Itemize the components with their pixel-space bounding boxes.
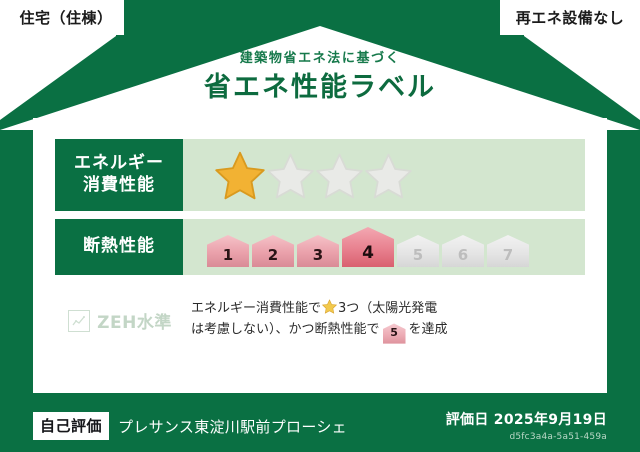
star-empty-icon <box>316 152 363 199</box>
zeh-standard-label: ZEH水準 <box>97 308 172 333</box>
evaluation-id: d5fc3a4a-5a51-459a <box>446 432 607 442</box>
star-filled-icon <box>215 150 265 200</box>
evaluation-date: 評価日 2025年9月19日 <box>446 409 607 429</box>
zeh-standard-chip: ZEH水準 <box>55 308 185 333</box>
property-name: プレサンス東淀川駅前プローシェ <box>118 416 347 437</box>
star-empty-icon <box>365 152 412 199</box>
energy-performance-row: エネルギー 消費性能 <box>55 139 585 211</box>
insulation-grade-2: 2 <box>252 235 294 267</box>
energy-performance-label-line1: エネルギー <box>74 153 164 175</box>
label-card: エネルギー 消費性能 断熱性能 1234567 <box>33 118 607 393</box>
page-title: 省エネ性能ラベル <box>0 71 640 105</box>
star-rating <box>215 150 412 200</box>
zeh-chart-icon <box>68 310 90 332</box>
star-empty-icon <box>267 152 314 199</box>
insulation-grade-7: 7 <box>487 235 529 267</box>
insulation-performance-value: 1234567 <box>183 219 585 275</box>
inline-grade-badge: 5 <box>383 323 406 343</box>
zeh-description-part3: を達成 <box>409 322 448 337</box>
energy-performance-label: 住宅（住棟） 再エネ設備なし 建築物省エネ法に基づく 省エネ性能ラベル エネルギ… <box>0 0 640 452</box>
insulation-grade-4: 4 <box>342 227 394 267</box>
insulation-grade-3: 3 <box>297 235 339 267</box>
insulation-grade-5: 5 <box>397 235 439 267</box>
zeh-description-stars: 3つ（太陽光発電 <box>338 301 437 316</box>
energy-performance-label: エネルギー 消費性能 <box>55 139 183 211</box>
insulation-performance-label-text: 断熱性能 <box>83 236 155 258</box>
label-subtitle: 建築物省エネ法に基づく <box>0 52 640 65</box>
insulation-grade-1: 1 <box>207 235 249 267</box>
inline-star-icon <box>322 299 337 314</box>
label-headline: 建築物省エネ法に基づく 省エネ性能ラベル <box>0 52 640 105</box>
zeh-description-part1: エネルギー消費性能で <box>191 301 321 316</box>
energy-performance-value <box>183 139 585 211</box>
footer-left: 自己評価 プレサンス東淀川駅前プローシェ <box>33 412 347 440</box>
insulation-performance-row: 断熱性能 1234567 <box>55 219 585 275</box>
renewable-energy-badge: 再エネ設備なし <box>500 0 640 35</box>
self-evaluation-badge: 自己評価 <box>33 412 109 440</box>
zeh-description-part2: は考慮しない）、かつ断熱性能で <box>191 322 380 337</box>
insulation-performance-label: 断熱性能 <box>55 219 183 275</box>
footer-right: 評価日 2025年9月19日 d5fc3a4a-5a51-459a <box>446 409 607 442</box>
insulation-grade-6: 6 <box>442 235 484 267</box>
zeh-section: ZEH水準 エネルギー消費性能で3つ（太陽光発電は考慮しない）、かつ断熱性能で5… <box>55 298 585 344</box>
energy-performance-label-line2: 消費性能 <box>83 175 155 197</box>
zeh-description: エネルギー消費性能で3つ（太陽光発電は考慮しない）、かつ断熱性能で5を達成 <box>185 298 585 344</box>
insulation-grade-scale: 1234567 <box>207 227 529 267</box>
building-type-badge: 住宅（住棟） <box>0 0 124 35</box>
